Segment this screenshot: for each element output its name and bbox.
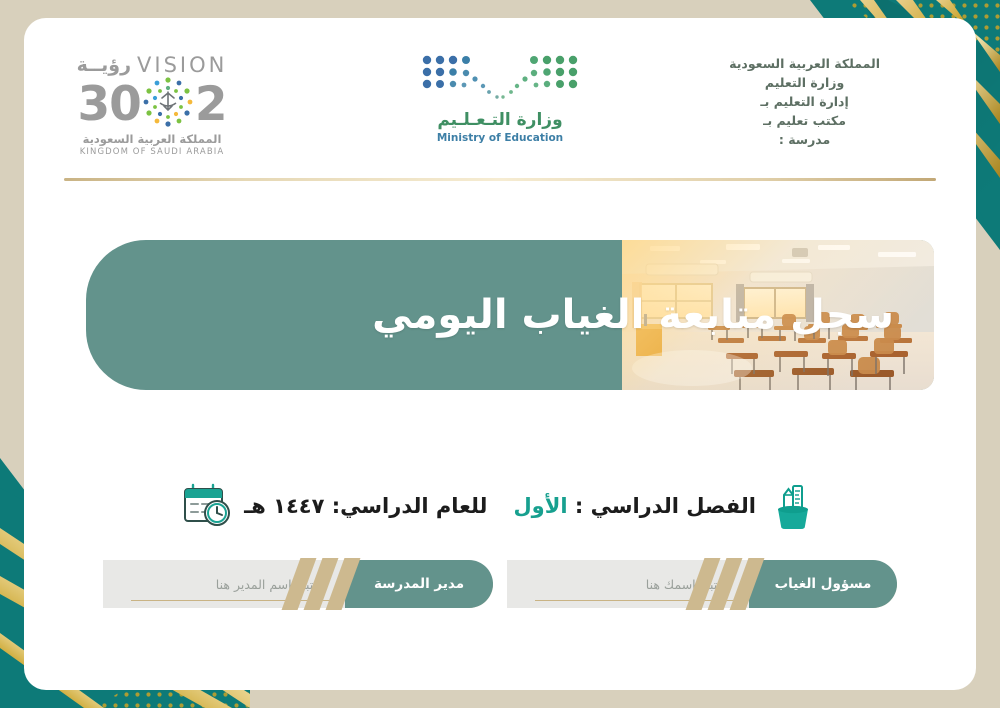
ministry-line-department: إدارة التعليم بـ <box>729 92 880 111</box>
page-title: سجل متابعة الغياب اليومي <box>372 292 894 338</box>
vision-kingdom-english: KINGDOM OF SAUDI ARABIA <box>62 147 242 157</box>
title-banner: سجل متابعة الغياب اليومي <box>86 240 934 390</box>
academic-info-row: الفصل الدراسي : الأول للعام الدراسي: ١٤٤… <box>24 466 976 546</box>
semester-value: الأول <box>513 494 567 518</box>
semester-label: الفصل الدراسي : <box>568 494 756 518</box>
signature-fields-row: اكتبي اسمك هنا مسؤول الغياب اكتبي اسم ال… <box>24 560 976 630</box>
vision-number-2: 2 <box>195 81 227 128</box>
pencil-cup-icon <box>768 477 818 535</box>
ministry-line-ministry: وزارة التعليم <box>729 73 880 92</box>
ministry-of-education-logo: وزارة التـعـلـيم Ministry of Education <box>415 52 585 144</box>
moe-logo-arabic-text: وزارة التـعـلـيم <box>415 110 585 130</box>
moe-dots-icon <box>415 52 585 108</box>
document-header: المملكة العربية السعودية وزارة التعليم إ… <box>24 18 976 170</box>
semester-info: الفصل الدراسي : الأول <box>513 477 818 535</box>
vision-word-arabic: رؤيــة <box>77 54 131 76</box>
vision-kingdom-arabic: المملكة العربية السعودية <box>62 132 242 146</box>
ministry-line-school: مدرسة : <box>729 130 880 149</box>
calendar-clock-icon <box>182 477 232 535</box>
academic-year-info: للعام الدراسي: ١٤٤٧ هـ <box>182 477 487 535</box>
vision-number-30: 30 <box>77 81 140 128</box>
academic-year-value: ١٤٤٧ هـ <box>244 494 324 518</box>
gold-divider-line <box>64 178 936 181</box>
semester-text: الفصل الدراسي : الأول <box>513 494 756 518</box>
absence-officer-label: مسؤول الغياب <box>749 560 897 608</box>
gold-stripes-decoration <box>275 560 353 608</box>
ministry-line-kingdom: المملكة العربية السعودية <box>729 54 880 73</box>
document-page: المملكة العربية السعودية وزارة التعليم إ… <box>0 0 1000 708</box>
content-card: المملكة العربية السعودية وزارة التعليم إ… <box>24 18 976 690</box>
gold-stripes-decoration <box>679 560 757 608</box>
school-principal-label: مدير المدرسة <box>345 560 493 608</box>
vision-2030-logo: VISION رؤيــة 2 <box>62 52 242 157</box>
field-absence-officer[interactable]: اكتبي اسمك هنا مسؤول الغياب <box>507 560 897 608</box>
moe-logo-english-text: Ministry of Education <box>415 132 585 144</box>
academic-year-text: للعام الدراسي: ١٤٤٧ هـ <box>244 494 487 518</box>
vision-2030-emblem-icon <box>142 76 194 132</box>
ministry-line-office: مكتب تعليم بـ <box>729 111 880 130</box>
academic-year-label: للعام الدراسي: <box>324 494 487 518</box>
field-school-principal[interactable]: اكتبي اسم المدير هنا مدير المدرسة <box>103 560 493 608</box>
vision-word-english: VISION <box>137 53 227 77</box>
ministry-address-block: المملكة العربية السعودية وزارة التعليم إ… <box>729 54 880 149</box>
